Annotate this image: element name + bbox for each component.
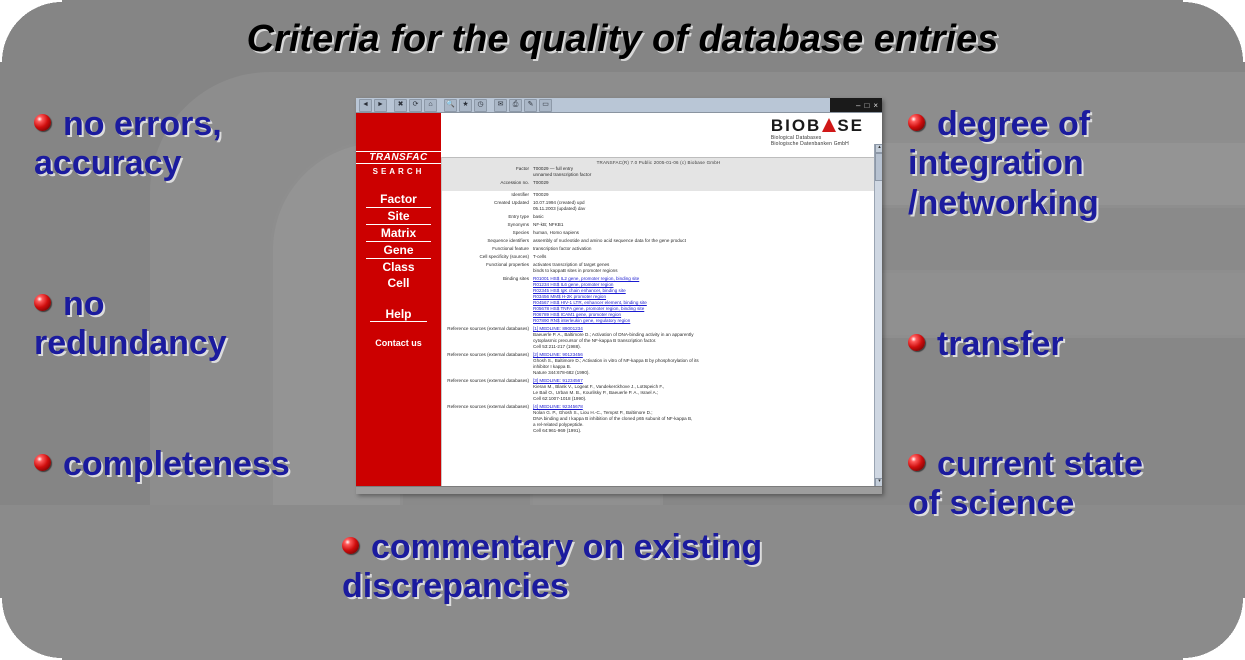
browser-statusbar — [356, 486, 882, 494]
entry-row-value: transcription factor activation — [531, 245, 876, 253]
entry-value-link[interactable]: R02345 HS$ IgK chain enhancer, binding s… — [533, 288, 626, 293]
stop-icon[interactable]: ✖ — [394, 99, 407, 112]
entry-value-line: T-cells — [533, 254, 874, 260]
favorites-icon[interactable]: ★ — [459, 99, 472, 112]
browser-titlebar: ◄ ► ✖ ⟳ ⌂ 🔍 ★ ◷ ✉ ⎙ ✎ ▭ – □ × — [356, 98, 882, 113]
entry-row: Reference sources (external databases)[3… — [441, 377, 876, 403]
bullet-line: current state — [937, 445, 1143, 483]
bullet-line: completeness — [63, 445, 290, 483]
entry-value-link[interactable]: R04567 HS$ HIV-1 LTR, enhancer element, … — [533, 300, 647, 305]
bullet-line: of science — [908, 484, 1074, 522]
bullet-line: /networking — [908, 184, 1099, 222]
entry-row-label: Binding sites — [441, 275, 531, 325]
biobase-logo: BIOBSE Biological Databases Biologische … — [771, 117, 864, 147]
entry-row-value: [2] MEDLINE: 90123456Ghosh S., Baltimore… — [531, 351, 876, 377]
bullet-line: accuracy — [34, 144, 181, 182]
entry-row-label: Functional feature — [441, 245, 531, 253]
bullet-line: commentary on existing — [371, 528, 762, 566]
entry-row: Reference sources (external databases)[1… — [441, 325, 876, 351]
entry-value-line: assembly of nucleotide and amino acid se… — [533, 238, 874, 244]
entry-row-value: R01001 HS$ IL2 gene, promoter region, bi… — [531, 275, 876, 325]
entry-row: IdentifierT00029 — [441, 191, 876, 199]
entry-value-link[interactable]: [1] MEDLINE: 89001234 — [533, 326, 583, 331]
entry-value-line: transcription factor activation — [533, 246, 874, 252]
scrollbar-thumb[interactable] — [875, 153, 882, 181]
biobase-triangle-icon — [822, 118, 836, 132]
entry-row: Entry typebasic — [441, 213, 876, 221]
corner-mask-br — [1183, 598, 1245, 660]
entry-value-link[interactable]: R03456 MM$ H-2K promoter region — [533, 294, 606, 299]
entry-row-label: Factor — [441, 165, 531, 179]
bullet-degree-of-integration: degree of integration /networking — [908, 105, 1099, 223]
entry-header-band: TRANSFAC(R) 7.0 Public 2005-01-06 (c) Bi… — [441, 157, 876, 191]
entry-row-label: Species — [441, 229, 531, 237]
entry-value-line: Cell 53:211-217 (1988). — [533, 344, 874, 350]
entry-value-line: Nature 344:678-682 (1990). — [533, 370, 874, 376]
bullet-commentary-discrepancies: commentary on existing discrepancies — [342, 528, 762, 607]
bullet-current-state-of-science: current state of science — [908, 445, 1143, 524]
sidebar-item-contact-us[interactable]: Contact us — [356, 338, 441, 348]
entry-row-label: Reference sources (external databases) — [441, 403, 531, 435]
search-icon[interactable]: 🔍 — [444, 99, 457, 112]
entry-row-value: NF-kB; NFKB1 — [531, 221, 876, 229]
scroll-up-arrow-icon[interactable]: ▴ — [875, 144, 882, 153]
entry-row: Binding sitesR01001 HS$ IL2 gene, promot… — [441, 275, 876, 325]
entry-row-value: T-cells — [531, 253, 876, 261]
bullet-line: no — [63, 285, 105, 323]
refresh-icon[interactable]: ⟳ — [409, 99, 422, 112]
corner-mask-bl — [0, 598, 62, 660]
bullet-transfer: transfer — [908, 325, 1064, 364]
entry-row: FactorT00029 — full entryunnamed transcr… — [441, 165, 876, 179]
bullet-marker-icon — [908, 454, 925, 471]
entry-row-value: [3] MEDLINE: 91234567Kieran M., Blank V.… — [531, 377, 876, 403]
maximize-button[interactable]: □ — [864, 101, 869, 110]
entry-row-label: Functional properties — [441, 261, 531, 275]
entry-row-label: Sequence identifiers — [441, 237, 531, 245]
entry-value-link[interactable]: R01001 HS$ IL2 gene, promoter region, bi… — [533, 276, 639, 281]
entry-row-value: [4] MEDLINE: 92345678Nolan G. P., Ghosh … — [531, 403, 876, 435]
entry-value-line: NF-kB; NFKB1 — [533, 222, 874, 228]
sidebar-item-factor[interactable]: Factor — [366, 192, 431, 208]
sidebar-nav: Factor Site Matrix Gene Class Cell — [356, 192, 441, 291]
entry-row-value: T00029 — [531, 179, 876, 187]
slide-root: Criteria for the quality of database ent… — [0, 0, 1245, 660]
window-controls[interactable]: – □ × — [830, 98, 882, 112]
entry-row-value: assembly of nucleotide and amino acid se… — [531, 237, 876, 245]
mail-icon[interactable]: ✉ — [494, 99, 507, 112]
forward-icon[interactable]: ► — [374, 99, 387, 112]
bullet-no-redundancy: no redundancy — [34, 285, 227, 364]
entry-row-label: Created Updated — [441, 199, 531, 213]
transfac-sidebar: TRANSFAC SEARCH Factor Site Matrix Gene … — [356, 113, 441, 494]
embedded-browser-screenshot: ◄ ► ✖ ⟳ ⌂ 🔍 ★ ◷ ✉ ⎙ ✎ ▭ – □ × — [356, 98, 882, 494]
entry-value-line: Cell 62:1007-1018 (1990). — [533, 396, 874, 402]
entry-row-value: T00029 — full entryunnamed transcription… — [531, 165, 876, 179]
bullet-line: discrepancies — [342, 567, 569, 605]
discuss-icon[interactable]: ▭ — [539, 99, 552, 112]
entry-row-value: [1] MEDLINE: 89001234Baeuerle P. A., Bal… — [531, 325, 876, 351]
sidebar-item-cell[interactable]: Cell — [366, 276, 431, 291]
entry-row-label: Synonyms — [441, 221, 531, 229]
entry-table-top: FactorT00029 — full entryunnamed transcr… — [441, 165, 876, 187]
sidebar-item-class[interactable]: Class — [366, 260, 431, 275]
biobase-word-part1: BIOB — [771, 116, 822, 135]
bullet-marker-icon — [34, 114, 51, 131]
bullet-line: integration — [908, 144, 1084, 182]
content-divider — [441, 157, 442, 494]
sidebar-item-site[interactable]: Site — [366, 209, 431, 225]
entry-value-line: 05.11.2003 (updated) dav — [533, 206, 874, 212]
transfac-logo: TRANSFAC — [356, 151, 441, 164]
entry-value-link[interactable]: R05678 HS$ TNFA gene, promoter region, b… — [533, 306, 644, 311]
bullet-completeness: completeness — [34, 445, 290, 484]
entry-row: Functional propertiesactivates transcrip… — [441, 261, 876, 275]
entry-value-line: T00029 — [533, 180, 874, 186]
sidebar-item-gene[interactable]: Gene — [366, 243, 431, 259]
bullet-marker-icon — [34, 454, 51, 471]
entry-row: SynonymsNF-kB; NFKB1 — [441, 221, 876, 229]
entry-row-label: Reference sources (external databases) — [441, 351, 531, 377]
entry-row-value: T00029 — [531, 191, 876, 199]
entry-row: Functional featuretranscription factor a… — [441, 245, 876, 253]
bullet-marker-icon — [342, 537, 359, 554]
entry-row: Reference sources (external databases)[2… — [441, 351, 876, 377]
entry-row-value: basic — [531, 213, 876, 221]
entry-value-line: human, Homo sapiens — [533, 230, 874, 236]
history-icon[interactable]: ◷ — [474, 99, 487, 112]
entry-row-label: Accession no. — [441, 179, 531, 187]
entry-value-link[interactable]: R06789 HS$ ICAM1 gene, promoter region — [533, 312, 621, 317]
edit-icon[interactable]: ✎ — [524, 99, 537, 112]
sidebar-item-help[interactable]: Help — [370, 307, 427, 322]
entry-value-link[interactable]: [2] MEDLINE: 90123456 — [533, 352, 583, 357]
entry-value-link[interactable]: R01234 HS$ IL6 gene, promoter region — [533, 282, 613, 287]
entry-value-line: T00029 — [533, 192, 874, 198]
bullet-line: degree of — [937, 105, 1090, 143]
entry-row-value: activates transcription of target genesb… — [531, 261, 876, 275]
transfac-search-label: SEARCH — [356, 167, 441, 176]
entry-row: Reference sources (external databases)[4… — [441, 403, 876, 435]
biobase-wordmark: BIOBSE — [771, 117, 864, 135]
bullet-no-errors: no errors, accuracy — [34, 105, 222, 184]
entry-row: Cell specificity (sources)T-cells — [441, 253, 876, 261]
bullet-line: transfer — [937, 325, 1064, 363]
entry-row: Accession no.T00029 — [441, 179, 876, 187]
entry-row: Sequence identifiersassembly of nucleoti… — [441, 237, 876, 245]
entry-value-line: Cell 64:961-969 (1991). — [533, 428, 874, 434]
brand-row: BIOBSE Biological Databases Biologische … — [441, 113, 876, 157]
bullet-marker-icon — [908, 114, 925, 131]
entry-value-line: R07890 RN$ interleukin gene, regulatory … — [533, 318, 874, 324]
entry-value-link[interactable]: R07890 RN$ interleukin gene, regulatory … — [533, 318, 630, 323]
entry-row: Created Updated10.07.1994 (created) upd0… — [441, 199, 876, 213]
bullet-line: no errors, — [63, 105, 222, 143]
biobase-word-part2: SE — [837, 116, 864, 135]
print-icon[interactable]: ⎙ — [509, 99, 522, 112]
entry-value-link[interactable]: [3] MEDLINE: 91234567 — [533, 378, 583, 383]
entry-row-label: Entry type — [441, 213, 531, 221]
biobase-subtitle-2: Biologische Datenbanken GmbH — [771, 141, 864, 147]
entry-row-label: Reference sources (external databases) — [441, 325, 531, 351]
back-icon[interactable]: ◄ — [359, 99, 372, 112]
entry-row-label: Cell specificity (sources) — [441, 253, 531, 261]
entry-value-line: binds to kappaB sites in promoter region… — [533, 268, 874, 274]
entry-value-line: unnamed transcription factor — [533, 172, 874, 178]
entry-row: Specieshuman, Homo sapiens — [441, 229, 876, 237]
entry-value-line: basic — [533, 214, 874, 220]
minimize-button[interactable]: – — [856, 101, 860, 110]
bullet-marker-icon — [908, 334, 925, 351]
sidebar-item-matrix[interactable]: Matrix — [366, 226, 431, 242]
browser-content: BIOBSE Biological Databases Biologische … — [441, 113, 876, 494]
entry-value-link[interactable]: [4] MEDLINE: 92345678 — [533, 404, 583, 409]
browser-toolbar[interactable]: ◄ ► ✖ ⟳ ⌂ 🔍 ★ ◷ ✉ ⎙ ✎ ▭ — [356, 99, 552, 112]
entry-row-label: Reference sources (external databases) — [441, 377, 531, 403]
browser-scrollbar[interactable]: ▴ ▾ — [874, 144, 882, 487]
entry-row-value: 10.07.1994 (created) upd05.11.2003 (upda… — [531, 199, 876, 213]
bullet-marker-icon — [34, 294, 51, 311]
home-icon[interactable]: ⌂ — [424, 99, 437, 112]
page-title: Criteria for the quality of database ent… — [0, 18, 1245, 61]
bullet-line: redundancy — [34, 324, 227, 362]
close-button[interactable]: × — [873, 101, 878, 110]
entry-row-value: human, Homo sapiens — [531, 229, 876, 237]
entry-table: IdentifierT00029Created Updated10.07.199… — [441, 191, 876, 435]
entry-row-label: Identifier — [441, 191, 531, 199]
